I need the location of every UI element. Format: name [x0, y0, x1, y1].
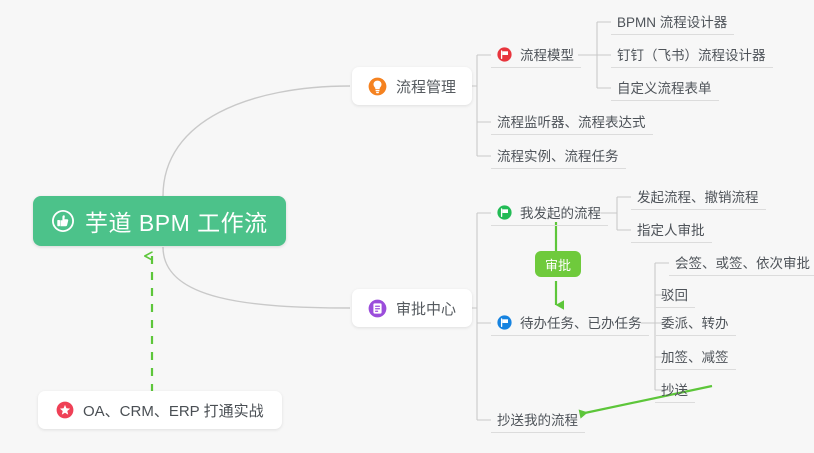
node-process-model-label: 流程模型: [520, 44, 574, 64]
node-cc-to-me-label: 抄送我的流程: [497, 409, 578, 429]
green-flag-icon: [497, 205, 512, 220]
node-process-listener-label: 流程监听器、流程表达式: [497, 111, 646, 131]
node-cc[interactable]: 抄送: [655, 376, 695, 403]
node-process-instance[interactable]: 流程实例、流程任务: [491, 142, 626, 169]
node-reject[interactable]: 驳回: [655, 281, 695, 308]
node-assignee-approval[interactable]: 指定人审批: [631, 216, 712, 243]
connector-process-model-children: [578, 22, 611, 88]
node-assignee-approval-label: 指定人审批: [637, 219, 705, 239]
node-my-started-process-label: 我发起的流程: [520, 202, 601, 222]
bottom-note-label: OA、CRM、ERP 打通实战: [83, 400, 264, 421]
connector-root-to-approval-center: [163, 247, 350, 308]
branch-process-management-label: 流程管理: [396, 76, 456, 97]
node-process-model[interactable]: 流程模型: [491, 41, 581, 68]
approval-tag-label: 审批: [545, 255, 571, 274]
node-dingtalk-designer-label: 钉钉（飞书）流程设计器: [617, 44, 766, 64]
star-icon: [56, 401, 74, 419]
node-add-remove-sign[interactable]: 加签、减签: [655, 343, 736, 370]
node-dingtalk-designer[interactable]: 钉钉（飞书）流程设计器: [611, 41, 773, 68]
node-cc-to-me[interactable]: 抄送我的流程: [491, 406, 585, 433]
bottom-note-node[interactable]: OA、CRM、ERP 打通实战: [38, 391, 282, 429]
node-multi-sign[interactable]: 会签、或签、依次审批: [669, 249, 814, 276]
node-bpmn-designer-label: BPMN 流程设计器: [617, 11, 727, 31]
node-custom-process-form[interactable]: 自定义流程表单: [611, 74, 719, 101]
node-cc-label: 抄送: [661, 379, 688, 399]
lightbulb-icon: [368, 77, 387, 96]
node-process-instance-label: 流程实例、流程任务: [497, 145, 619, 165]
node-process-listener[interactable]: 流程监听器、流程表达式: [491, 108, 653, 135]
blue-flag-icon: [497, 315, 512, 330]
node-add-remove-sign-label: 加签、减签: [661, 346, 729, 366]
node-multi-sign-label: 会签、或签、依次审批: [675, 252, 810, 272]
node-reject-label: 驳回: [661, 284, 688, 304]
approval-tag[interactable]: 审批: [535, 251, 581, 277]
node-delegate-transfer-label: 委派、转办: [661, 312, 729, 332]
connector-root-to-process-management: [163, 86, 350, 196]
node-bpmn-designer[interactable]: BPMN 流程设计器: [611, 8, 734, 35]
thumbs-up-icon: [51, 209, 75, 233]
node-delegate-transfer[interactable]: 委派、转办: [655, 309, 736, 336]
mindmap-canvas: 芋道 BPM 工作流 OA、CRM、ERP 打通实战 流程管理: [0, 0, 814, 453]
node-start-cancel-process-label: 发起流程、撤销流程: [637, 186, 759, 206]
root-node[interactable]: 芋道 BPM 工作流: [33, 196, 286, 246]
node-start-cancel-process[interactable]: 发起流程、撤销流程: [631, 183, 766, 210]
node-todo-done-tasks[interactable]: 待办任务、已办任务: [491, 309, 649, 336]
branch-approval-center-label: 审批中心: [396, 298, 456, 319]
node-custom-process-form-label: 自定义流程表单: [617, 77, 712, 97]
node-todo-done-tasks-label: 待办任务、已办任务: [520, 312, 642, 332]
node-my-started-process[interactable]: 我发起的流程: [491, 199, 608, 226]
branch-approval-center[interactable]: 审批中心: [352, 289, 472, 327]
root-label: 芋道 BPM 工作流: [85, 204, 268, 238]
branch-process-management[interactable]: 流程管理: [352, 67, 472, 105]
red-flag-icon: [497, 47, 512, 62]
purple-doc-icon: [368, 299, 387, 318]
